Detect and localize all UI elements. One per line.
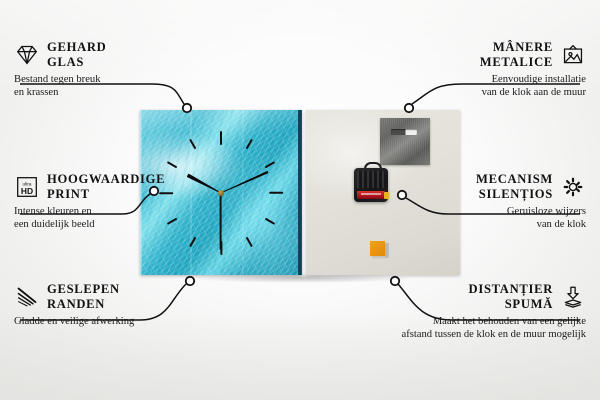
callout-3-title-row: GESLEPEN RANDEN	[14, 282, 194, 311]
leader-node-5	[398, 191, 406, 199]
ultra-hd-icon: ultra HD	[14, 176, 40, 198]
callout-1-title-row: GEHARD GLAS	[14, 40, 184, 69]
callout-3-title: GESLEPEN RANDEN	[47, 282, 120, 311]
callout-2-desc: Intense kleuren en een duidelijk beeld	[14, 205, 184, 231]
callout-2-title: HOOGWAARDIGE PRINT	[47, 172, 165, 201]
callout-hoogwaardige-print[interactable]: ultra HD HOOGWAARDIGE PRINT Intense kleu…	[14, 172, 184, 231]
callout-2-title-row: ultra HD HOOGWAARDIGE PRINT	[14, 172, 184, 201]
diamond-icon	[14, 44, 40, 66]
callout-4-title-row: MÂNERE METALICE	[410, 40, 586, 69]
callout-gehard-glas[interactable]: GEHARD GLAS Bestand tegen breuk en krass…	[14, 40, 184, 99]
callout-3-desc: Gladde en veilige afwerking	[14, 315, 194, 328]
leader-node-1	[183, 104, 191, 112]
callout-6-desc: Maakt het behouden van een gelijke afsta…	[396, 315, 586, 341]
callout-1-desc: Bestand tegen breuk en krassen	[14, 73, 184, 99]
callout-geslepen-randen[interactable]: GESLEPEN RANDEN Gladde en veilige afwerk…	[14, 282, 194, 328]
leader-node-4	[405, 104, 413, 112]
spacer-down-arrow-icon	[560, 286, 586, 308]
callout-4-title: MÂNERE METALICE	[480, 40, 553, 69]
callout-6-title: DISTANȚIER SPUMĂ	[469, 282, 553, 311]
callout-6-title-row: DISTANȚIER SPUMĂ	[396, 282, 586, 311]
callout-manere-metalice[interactable]: MÂNERE METALICE Eenvoudige installatie v…	[410, 40, 586, 99]
callout-mecanism-silentios[interactable]: MECANISM SILENȚIOS Geruisloze wijzers va…	[410, 172, 586, 231]
bevelled-edges-icon	[14, 286, 40, 308]
callout-distantier-spuma[interactable]: DISTANȚIER SPUMĂ Maakt het behouden van …	[396, 282, 586, 341]
callout-5-title-row: MECANISM SILENȚIOS	[410, 172, 586, 201]
callout-5-title: MECANISM SILENȚIOS	[476, 172, 553, 201]
callout-5-desc: Geruisloze wijzers van de klok	[410, 205, 586, 231]
svg-text:HD: HD	[21, 185, 33, 195]
picture-hanger-icon	[560, 44, 586, 66]
callout-1-title: GEHARD GLAS	[47, 40, 106, 69]
gear-icon	[560, 176, 586, 198]
callout-4-desc: Eenvoudige installatie van de klok aan d…	[410, 73, 586, 99]
infographic-canvas: GEHARD GLAS Bestand tegen breuk en krass…	[0, 0, 600, 400]
